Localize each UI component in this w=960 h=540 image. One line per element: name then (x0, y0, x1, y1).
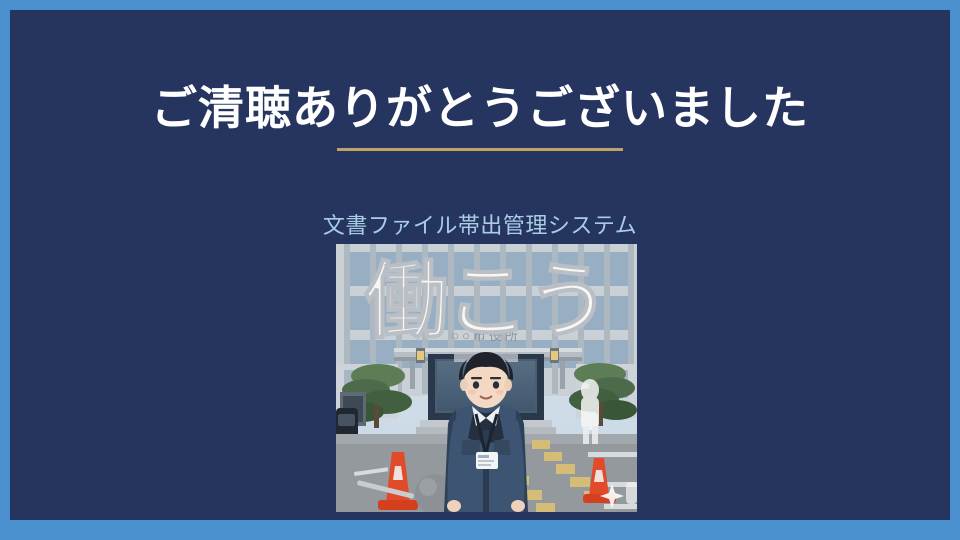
page-title: ご清聴ありがとうございました (10, 83, 950, 134)
title-divider (337, 148, 623, 151)
person-eye-left (473, 381, 479, 389)
subtitle: 文書ファイル帯出管理システム (10, 208, 950, 240)
illustration-artwork: ○○市役所 (336, 244, 637, 512)
person-eye-right (493, 381, 499, 389)
blurred-pedestrian-2 (626, 482, 637, 504)
slide-root: ご清聴ありがとうございました 文書ファイル帯出管理システム (0, 0, 960, 540)
illustration-city-hall: ○○市役所 (336, 244, 637, 512)
slide-canvas: ご清聴ありがとうございました 文書ファイル帯出管理システム (10, 10, 950, 520)
overlay-text-hatarakou: 働こう (364, 254, 607, 348)
